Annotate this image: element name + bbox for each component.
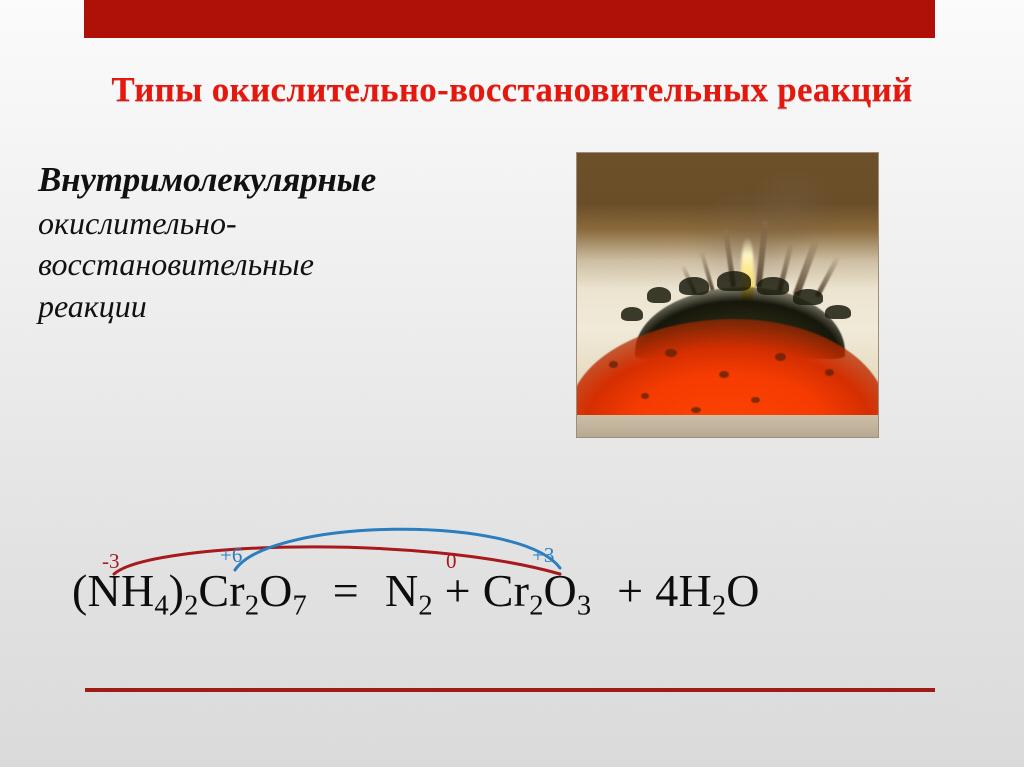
body-text-line-3: восстановительные [38, 244, 558, 286]
body-text-block: Внутримолекулярные окислительно- восстан… [38, 157, 558, 327]
oxidation-state-cr-reactant: +6 [220, 545, 242, 566]
eq-product-cr-o-sub: 3 [577, 591, 591, 622]
eq-product-cr-o: O [543, 565, 576, 616]
ash-tuft [621, 307, 643, 321]
eq-water-h-sub: 2 [712, 591, 726, 622]
eq-water-h: H [679, 565, 712, 616]
ash-tuft [717, 271, 751, 291]
eq-equals-sign: = [333, 565, 359, 616]
ash-tuft [679, 277, 709, 295]
ash-tuft [757, 277, 789, 295]
oxidation-state-cr-product: +3 [532, 545, 554, 566]
redox-equation-block: -3 +6 0 +3 (NH4)2Cr2O7=N2+Cr2O3+4H2O [0, 512, 1024, 642]
body-text-line-1: Внутримолекулярные [38, 157, 558, 203]
eq-reactant-nh4-open: (NH [72, 565, 154, 616]
eq-product-cr: Cr [483, 565, 529, 616]
smoke-puff [737, 171, 847, 241]
top-red-banner [84, 0, 935, 38]
page-title: Типы окислительно-восстановительных реак… [0, 70, 1024, 110]
body-text-line-2: окислительно- [38, 203, 558, 245]
eq-reactant-o-sub: 7 [293, 591, 307, 622]
chemical-equation: (NH4)2Cr2O7=N2+Cr2O3+4H2O [72, 564, 760, 623]
reaction-photo [576, 152, 879, 438]
ash-tuft [793, 289, 823, 305]
photo-table-surface [577, 415, 878, 437]
eq-reactant-cr-sub: 2 [245, 591, 259, 622]
eq-product-n: N [385, 565, 418, 616]
bottom-divider-rule [85, 688, 935, 692]
ash-tuft [647, 287, 671, 303]
slide-canvas: Типы окислительно-восстановительных реак… [0, 0, 1024, 767]
eq-reactant-o: O [259, 565, 292, 616]
eq-reactant-paren-close: ) [169, 565, 185, 616]
eq-water-coefficient: 4 [655, 565, 678, 616]
eq-plus-2: + [617, 565, 643, 616]
body-text-line-4: реакции [38, 286, 558, 328]
eq-reactant-nh4-sub: 4 [154, 591, 168, 622]
eq-reactant-cr: Cr [198, 565, 244, 616]
ash-tuft [825, 305, 851, 319]
eq-water-o: O [726, 565, 759, 616]
eq-plus-1: + [445, 565, 471, 616]
eq-product-cr-sub: 2 [529, 591, 543, 622]
eq-reactant-paren-sub: 2 [184, 591, 198, 622]
eq-product-n-sub: 2 [418, 591, 432, 622]
